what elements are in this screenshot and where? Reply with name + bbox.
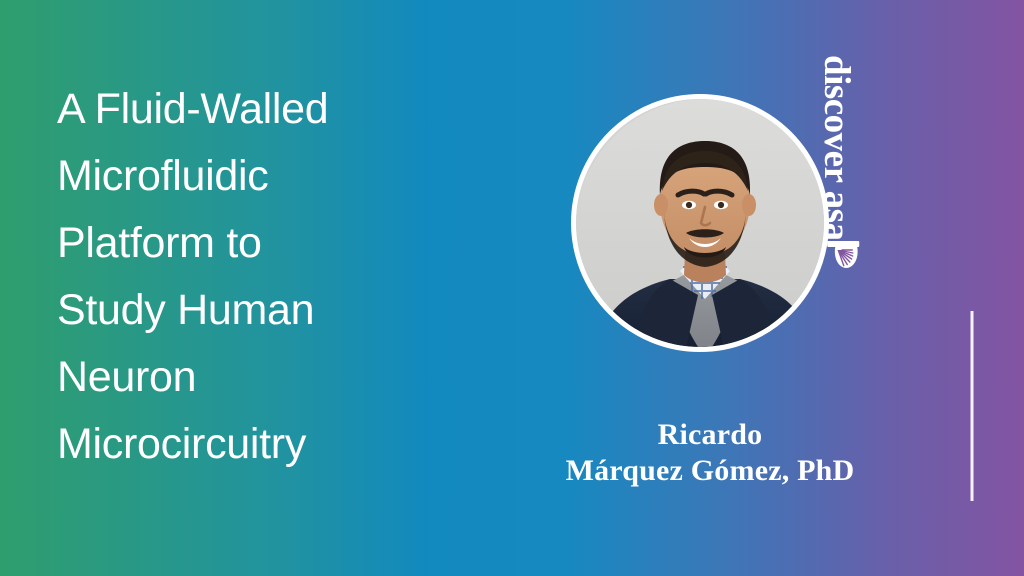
brand-logo[interactable]: discover asa — [818, 55, 865, 269]
title-line: A Fluid-Walled — [57, 76, 477, 143]
avatar-ring — [571, 94, 829, 352]
speaker-name: Ricardo Márquez Gómez, PhD — [500, 417, 920, 489]
avatar — [576, 99, 824, 347]
title-slide: A Fluid-Walled Microfluidic Platform to … — [0, 0, 1024, 576]
title-line: Microfluidic — [57, 143, 477, 210]
asap-fan-p-icon — [825, 239, 865, 269]
brand-rail: discover asa — [920, 0, 1024, 576]
brand-divider — [971, 311, 974, 501]
page-title: A Fluid-Walled Microfluidic Platform to … — [57, 76, 477, 478]
title-line: Microcircuitry — [57, 411, 477, 478]
title-line: Platform to — [57, 210, 477, 277]
speaker-name-line: Ricardo — [500, 417, 920, 453]
speaker-photo — [571, 94, 829, 352]
speaker-name-line: Márquez Gómez, PhD — [500, 453, 920, 489]
title-line: Neuron — [57, 344, 477, 411]
brand-wordmark-text: discover asa — [818, 55, 855, 241]
title-line: Study Human — [57, 277, 477, 344]
